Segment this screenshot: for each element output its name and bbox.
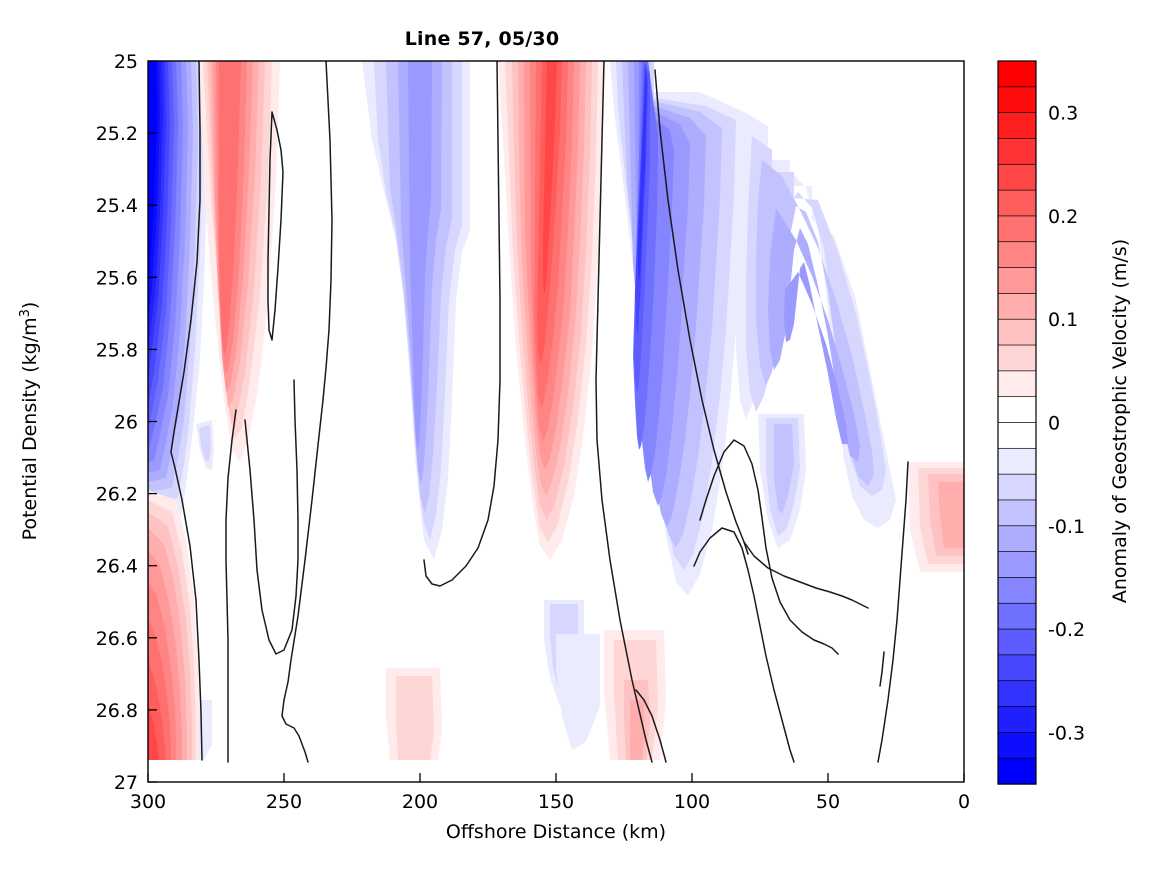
colorbar-cell [998,707,1036,733]
colorbar-tick-label: 0.3 [1048,103,1078,125]
colorbar-cell [998,500,1036,526]
colorbar-cell [998,758,1036,784]
y-tick-label: 26.8 [96,700,138,722]
colorbar-cell [998,732,1036,758]
x-tick-label: 150 [538,791,574,813]
colorbar-tick-label: -0.2 [1048,619,1085,641]
y-tick-label: 27 [114,772,138,794]
colorbar-cell [998,681,1036,707]
colorbar-cell [998,113,1036,139]
x-tick-label: 300 [130,791,166,813]
colorbar-cell [998,242,1036,268]
colorbar-cell [998,61,1036,87]
y-tick-label: 25.6 [96,267,138,289]
colorbar-label-text: Anomaly of Geostrophic Velocity (m/s) [1109,239,1131,603]
colorbar-cell [998,526,1036,552]
colorbar-label: Anomaly of Geostrophic Velocity (m/s) [1109,239,1131,603]
y-axis-label-tail: ) [19,302,41,309]
colorbar-tick-label: 0.1 [1048,309,1078,331]
band-nearshore-positive [908,462,964,572]
colorbar-cell [998,319,1036,345]
x-axis-label: Offshore Distance (km) [446,821,666,843]
y-tick-label: 25 [114,51,138,73]
y-tick-label: 25.8 [96,339,138,361]
colorbar-cell [998,552,1036,578]
colorbar-cell [998,268,1036,294]
colorbar-cell [998,345,1036,371]
colorbar-cell [998,603,1036,629]
colorbar-cell [998,216,1036,242]
colorbar-cell [998,655,1036,681]
x-tick-label: 200 [402,791,438,813]
y-axis-label-superscript: 3 [18,309,33,317]
x-tick-label: 50 [816,791,840,813]
colorbar-cell [998,138,1036,164]
colorbar[interactable] [998,61,1036,784]
contour-plot: 300250200150100500 2525.225.425.625.8262… [0,0,1167,875]
colorbar-tick-label: 0.2 [1048,206,1078,228]
x-tick-label: 250 [266,791,302,813]
y-tick-label: 26 [114,412,138,434]
colorbar-cell [998,629,1036,655]
colorbar-cell [998,423,1036,449]
x-tick-label: 0 [958,791,970,813]
y-axis-label: Potential Density (kg/m3) [18,302,41,541]
colorbar-cell [998,87,1036,113]
x-tick-label: 100 [674,791,710,813]
colorbar-tick-label: -0.3 [1048,722,1085,744]
colorbar-ticks: 0.30.20.10-0.1-0.2-0.3 [1048,103,1085,745]
colorbar-cell [998,397,1036,423]
colorbar-cell [998,448,1036,474]
y-tick-label: 26.6 [96,628,138,650]
colorbar-cell [998,164,1036,190]
colorbar-cell [998,474,1036,500]
figure-canvas: Line 57, 05/30 [0,0,1167,875]
colorbar-tick-label: 0 [1048,413,1060,435]
colorbar-cell [998,371,1036,397]
y-axis-label-main: Potential Density (kg/m [19,317,41,540]
y-tick-label: 25.2 [96,123,138,145]
y-tick-label: 26.2 [96,484,138,506]
colorbar-cell [998,293,1036,319]
colorbar-tick-label: -0.1 [1048,516,1085,538]
y-tick-label: 26.4 [96,556,138,578]
y-tick-label: 25.4 [96,195,138,217]
colorbar-cell [998,577,1036,603]
svg-text:Potential Density (kg/m3): Potential Density (kg/m3) [18,302,41,541]
colorbar-cell [998,190,1036,216]
